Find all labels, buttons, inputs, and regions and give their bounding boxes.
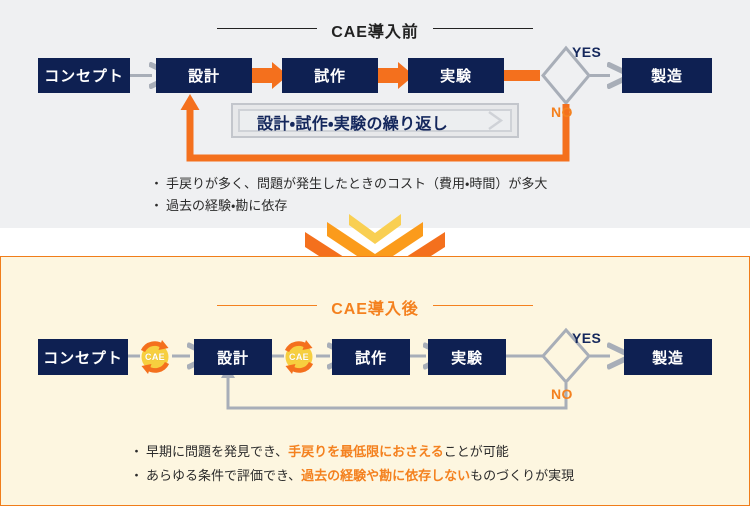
before-bullets: ・手戻りが多く、問題が発生したときのコスト（費用・時間）が多大 ・過去の経験・勘… <box>150 173 547 217</box>
after-bullet-1-seg-3: ことが可能 <box>444 444 509 459</box>
after-step-design-label: 設計 <box>217 347 249 368</box>
after-bullet-1-seg-1: 早期に問題を発見でき、 <box>146 444 288 459</box>
after-step-manufacture-label: 製造 <box>652 347 684 368</box>
before-step-manufacture-label: 製造 <box>651 65 683 86</box>
before-step-prototype[interactable]: 試作 <box>282 58 378 93</box>
after-bullet-1-highlight: 手戻りを最低限におさえる <box>288 444 444 459</box>
after-step-prototype-label: 試作 <box>355 347 387 368</box>
before-step-concept[interactable]: コンセプト <box>38 58 130 93</box>
after-yes-label: YES <box>572 330 601 346</box>
before-repeat-label: 設計・試作・実験の繰り返し <box>257 110 448 134</box>
after-cae-badge-1-label: CAE <box>136 338 174 376</box>
before-bullet-1-text: 手戻りが多く、問題が発生したときのコスト（費用・時間）が多大 <box>166 176 547 191</box>
before-bullet-2-text: 過去の経験・勘に依存 <box>166 198 287 213</box>
after-step-prototype[interactable]: 試作 <box>332 339 410 375</box>
after-step-concept-label: コンセプト <box>43 347 123 368</box>
after-bullet-2-seg-1: あらゆる条件で評価でき、 <box>146 468 301 483</box>
after-bullet-2-highlight: 過去の経験や勘に依存しない <box>301 468 470 483</box>
before-no-label: NO <box>551 104 573 120</box>
before-repeat-arrowhead-icon <box>487 109 517 132</box>
before-yes-label: YES <box>572 44 601 60</box>
before-step-concept-label: コンセプト <box>44 65 124 86</box>
after-bullet-2-seg-3: ものづくりが実現 <box>470 468 574 483</box>
after-no-label: NO <box>551 386 573 402</box>
bullet-marker: ・ <box>150 195 166 217</box>
after-bullets: ・早期に問題を発見でき、手戻りを最低限におさえることが可能 ・あらゆる条件で評価… <box>130 440 574 488</box>
bullet-marker: ・ <box>150 173 166 195</box>
after-step-concept[interactable]: コンセプト <box>38 339 128 375</box>
before-step-manufacture[interactable]: 製造 <box>622 58 712 93</box>
after-step-design[interactable]: 設計 <box>194 339 272 375</box>
diagram-root: CAE導入前 コンセプト 設計 試作 実験 製造 <box>0 0 750 506</box>
after-step-manufacture[interactable]: 製造 <box>624 339 712 375</box>
after-bullet-1: ・早期に問題を発見でき、手戻りを最低限におさえることが可能 <box>130 440 574 464</box>
after-step-test-label: 実験 <box>451 347 483 368</box>
after-bullet-2: ・あらゆる条件で評価でき、過去の経験や勘に依存しないものづくりが実現 <box>130 464 574 488</box>
after-cae-badge-1[interactable]: CAE <box>136 338 174 376</box>
before-step-test-label: 実験 <box>440 65 472 86</box>
after-cae-badge-2[interactable]: CAE <box>280 338 318 376</box>
bullet-marker: ・ <box>130 464 146 488</box>
before-step-test[interactable]: 実験 <box>408 58 504 93</box>
before-step-prototype-label: 試作 <box>314 65 346 86</box>
before-step-design[interactable]: 設計 <box>156 58 252 93</box>
after-step-test[interactable]: 実験 <box>428 339 506 375</box>
after-cae-badge-2-label: CAE <box>280 338 318 376</box>
before-step-design-label: 設計 <box>188 65 220 86</box>
bullet-marker: ・ <box>130 440 146 464</box>
before-bullet-1: ・手戻りが多く、問題が発生したときのコスト（費用・時間）が多大 <box>150 173 547 195</box>
